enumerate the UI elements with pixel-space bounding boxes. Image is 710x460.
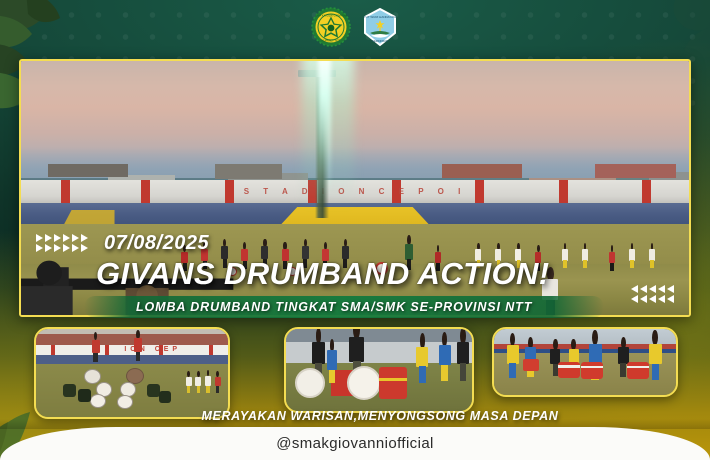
- thumb-drum-pyramid: ION CEP: [34, 327, 230, 419]
- event-subtitle: LOMBA DRUMBAND TINGKAT SMA/SMK SE-PROVIN…: [84, 296, 644, 318]
- tut-wuri-handayani-logo: TUT WURI HANDAYANI KEMDIKBUD: [360, 7, 400, 47]
- svg-text:TUT WURI HANDAYANI: TUT WURI HANDAYANI: [363, 15, 396, 19]
- svg-text:KUPANG - NTT: KUPANG - NTT: [321, 38, 340, 42]
- event-poster: SMA KATOLIK GIOVANNI KUPANG - NTT TUT WU…: [0, 0, 710, 460]
- photo-lens-flare-core: [318, 59, 331, 198]
- page-title: GIVANS DRUMBAND ACTION!: [96, 256, 710, 292]
- event-date: 07/08/2025: [104, 232, 710, 255]
- svg-text:KEMDIKBUD: KEMDIKBUD: [372, 39, 388, 43]
- stadium-sign-text: S T A D I O N C E P O I: [21, 180, 689, 203]
- thumb-yellow-uniform-band: [492, 327, 678, 397]
- title-block: 07/08/2025 GIVANS DRUMBAND ACTION! LOMBA…: [0, 232, 710, 292]
- footer-bar: @smakgiovanniofficial: [0, 427, 710, 460]
- social-handle[interactable]: @smakgiovanniofficial: [276, 435, 434, 452]
- thumb-bass-drummers: [284, 327, 474, 413]
- header-logos: SMA KATOLIK GIOVANNI KUPANG - NTT TUT WU…: [0, 7, 710, 47]
- school-crest-logo: SMA KATOLIK GIOVANNI KUPANG - NTT: [311, 7, 351, 47]
- photo-collage: ION CEP: [0, 325, 710, 421]
